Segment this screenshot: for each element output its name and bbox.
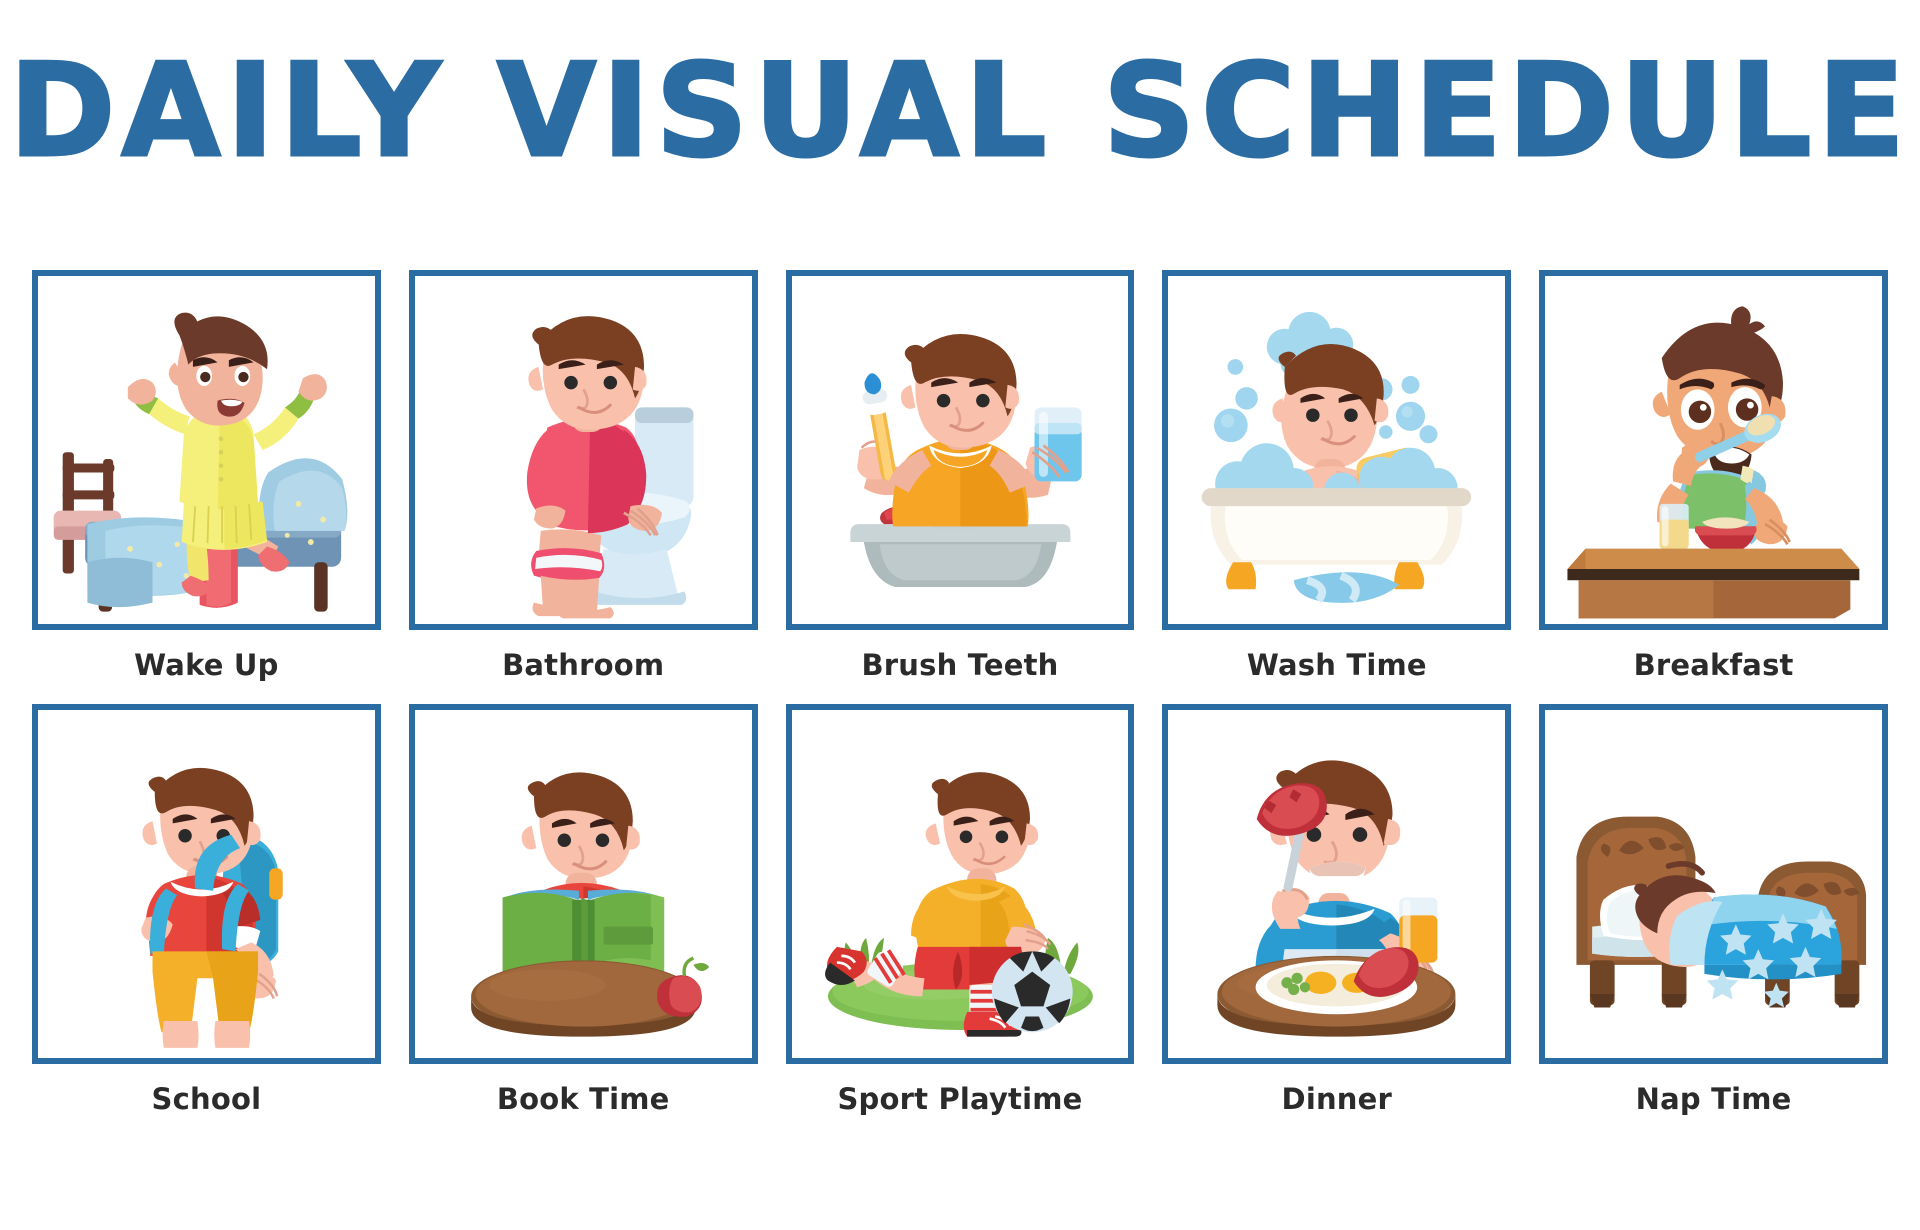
- schedule-card-bathroom[interactable]: Bathroom: [409, 270, 758, 682]
- schedule-card-wash-time[interactable]: Wash Time: [1162, 270, 1511, 682]
- page-title: DAILY VISUAL SCHEDULE: [0, 48, 1920, 176]
- schedule-card-nap-time[interactable]: Nap Time: [1539, 704, 1888, 1116]
- card-image-frame-dinner[interactable]: [1162, 704, 1511, 1064]
- card-label: School: [152, 1082, 262, 1116]
- card-label: Wash Time: [1247, 648, 1427, 682]
- card-label: Wake Up: [134, 648, 279, 682]
- schedule-card-school[interactable]: School: [32, 704, 381, 1116]
- card-image-frame-sport-playtime[interactable]: [786, 704, 1135, 1064]
- card-image-frame-book-time[interactable]: [409, 704, 758, 1064]
- schedule-card-breakfast[interactable]: Breakfast: [1539, 270, 1888, 682]
- card-label: Breakfast: [1634, 648, 1794, 682]
- schedule-card-wake-up[interactable]: Wake Up: [32, 270, 381, 682]
- boy-eating-cereal-at-table-icon: [1545, 276, 1882, 624]
- card-image-frame-school[interactable]: [32, 704, 381, 1064]
- card-image-frame-wash-time[interactable]: [1162, 270, 1511, 630]
- card-image-frame-wake-up[interactable]: [32, 270, 381, 630]
- schedule-grid: Wake Up: [32, 270, 1888, 1116]
- boy-playing-soccer-icon: [792, 710, 1129, 1058]
- boy-sitting-on-toilet-icon: [415, 276, 752, 624]
- boy-in-bathtub-with-sponge-icon: [1168, 276, 1505, 624]
- card-label: Dinner: [1282, 1082, 1392, 1116]
- boy-waking-up-in-bed-icon: [38, 276, 375, 624]
- schedule-card-brush-teeth[interactable]: Brush Teeth: [786, 270, 1135, 682]
- card-image-frame-brush-teeth[interactable]: [786, 270, 1135, 630]
- boy-reading-green-book-icon: [415, 710, 752, 1058]
- card-image-frame-breakfast[interactable]: [1539, 270, 1888, 630]
- schedule-card-sport-playtime[interactable]: Sport Playtime: [786, 704, 1135, 1116]
- boy-sleeping-in-bed-icon: [1545, 710, 1882, 1058]
- card-label: Nap Time: [1636, 1082, 1792, 1116]
- boy-at-sink-with-toothbrush-icon: [792, 276, 1129, 624]
- card-image-frame-bathroom[interactable]: [409, 270, 758, 630]
- card-label: Book Time: [497, 1082, 670, 1116]
- card-label: Bathroom: [502, 648, 664, 682]
- card-label: Brush Teeth: [861, 648, 1058, 682]
- boy-with-backpack-icon: [38, 710, 375, 1058]
- card-image-frame-nap-time[interactable]: [1539, 704, 1888, 1064]
- card-label: Sport Playtime: [837, 1082, 1082, 1116]
- boy-eating-dinner-icon: [1168, 710, 1505, 1058]
- schedule-card-book-time[interactable]: Book Time: [409, 704, 758, 1116]
- schedule-card-dinner[interactable]: Dinner: [1162, 704, 1511, 1116]
